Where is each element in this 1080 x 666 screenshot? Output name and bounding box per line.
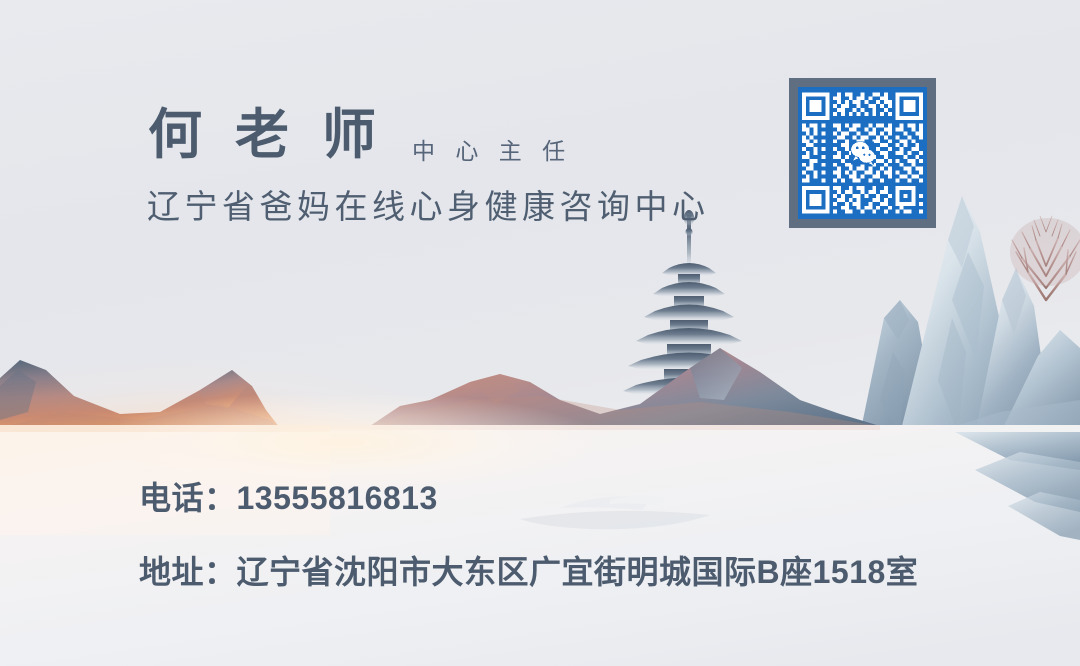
address-line: 地址：辽宁省沈阳市大东区广宜街明城国际B座1518室 xyxy=(139,556,918,588)
person-title: 中 心 主 任 xyxy=(412,140,572,163)
person-name: 何 老 师 xyxy=(148,108,385,162)
card-text-block: 何 老 师 中 心 主 任 辽宁省爸妈在线心身健康咨询中心 电话：1355581… xyxy=(0,0,1080,666)
phone-line: 电话：13555816813 xyxy=(139,482,438,514)
organization-name: 辽宁省爸妈在线心身健康咨询中心 xyxy=(147,190,710,223)
business-card: 何 老 师 中 心 主 任 辽宁省爸妈在线心身健康咨询中心 电话：1355581… xyxy=(0,0,1080,666)
